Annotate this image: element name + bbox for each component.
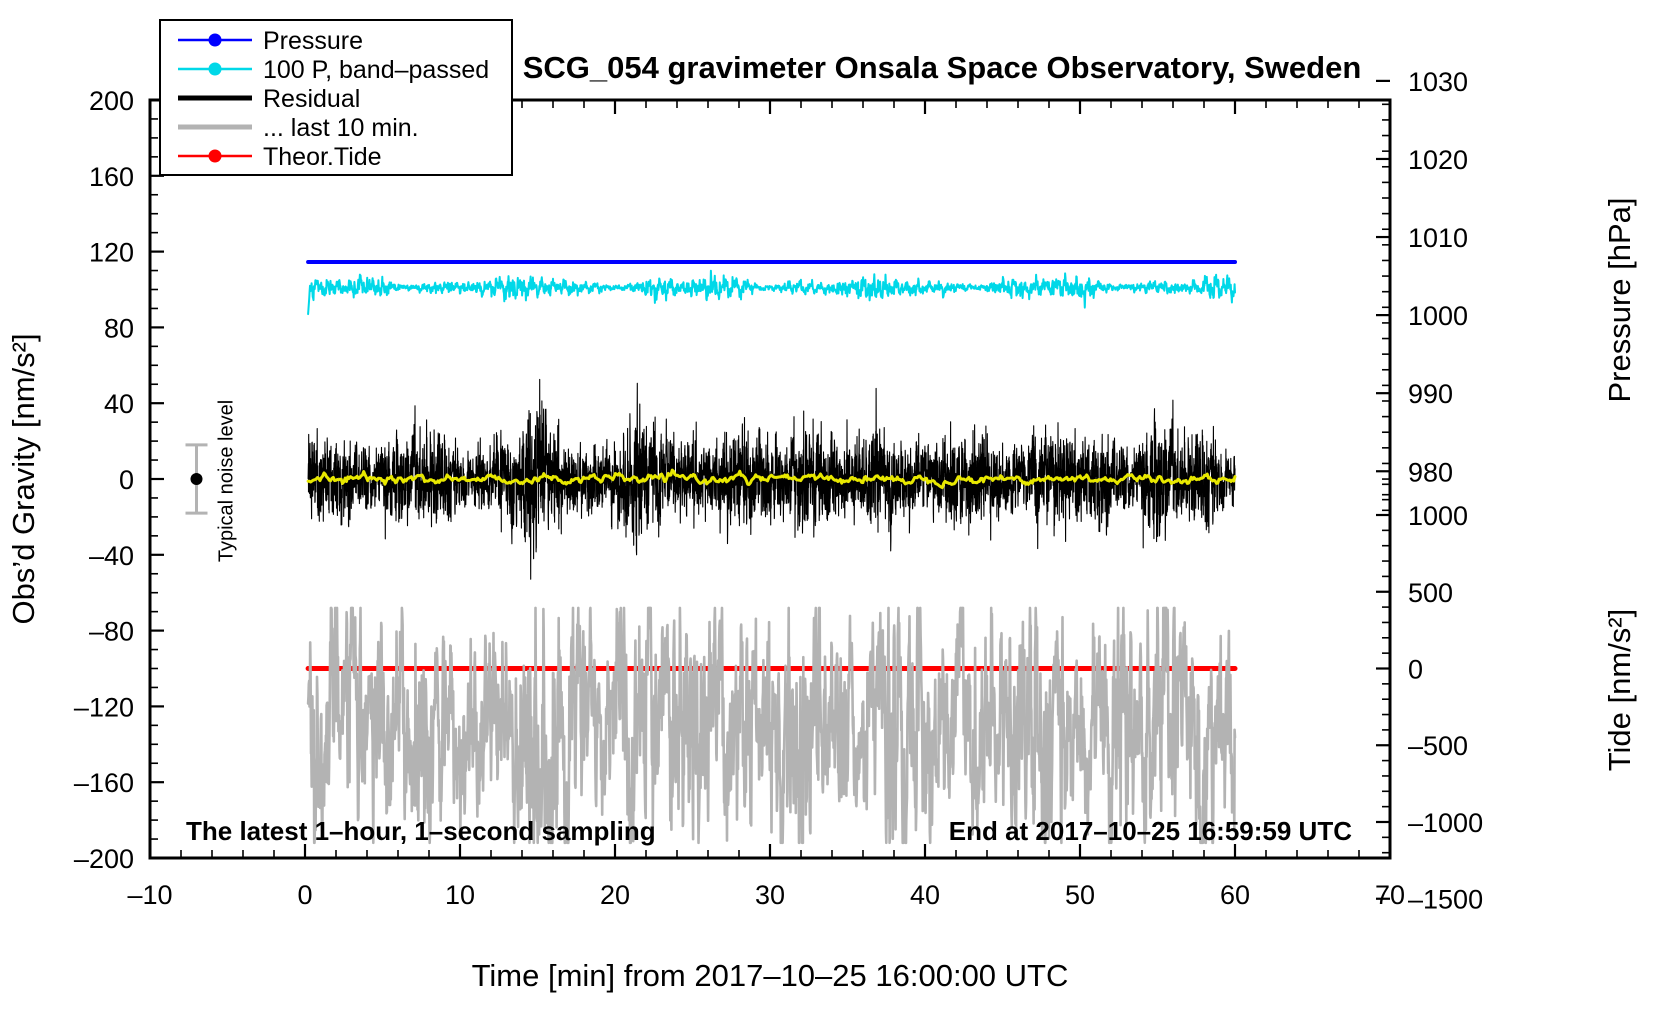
- y-tick-label: –80: [89, 617, 134, 647]
- chart-page: Typical noise level–10010203040506070Tim…: [0, 0, 1660, 1020]
- pressure-tick-label: 1010: [1408, 223, 1468, 253]
- noise-bar-center-dot: [191, 473, 203, 485]
- legend-marker-dot: [209, 34, 222, 47]
- x-axis-title: Time [min] from 2017–10–25 16:00:00 UTC: [472, 958, 1069, 993]
- y-tick-label: 0: [119, 465, 134, 495]
- y-tick-label: –40: [89, 541, 134, 571]
- tide-tick-label: 500: [1408, 578, 1453, 608]
- y-axis-title: Obs’d Gravity [nm/s²]: [6, 333, 41, 624]
- pressure-axis-title: Pressure [hPa]: [1602, 197, 1637, 402]
- legend-marker-dot: [209, 63, 222, 76]
- y-tick-label: –200: [74, 844, 134, 874]
- tide-axis-title: Tide [nm/s²]: [1602, 609, 1637, 772]
- gravimeter-chart: Typical noise level–10010203040506070Tim…: [0, 0, 1660, 1020]
- plot-area: [308, 262, 1235, 843]
- y-tick-label: –120: [74, 692, 134, 722]
- y-axis-right-tide: 10005000–500–1000–1500: [1376, 484, 1483, 914]
- typical-noise-level: Typical noise level: [186, 400, 238, 562]
- chart-title: SCG_054 gravimeter Onsala Space Observat…: [523, 50, 1362, 85]
- x-tick-label: 70: [1375, 880, 1405, 910]
- pressure-tick-label: 1000: [1408, 301, 1468, 331]
- legend-item-label: 100 P, band–passed: [263, 56, 489, 84]
- y-tick-label: 160: [89, 162, 134, 192]
- tide-tick-label: –1000: [1408, 808, 1483, 838]
- pressure-tick-label: 1020: [1408, 145, 1468, 175]
- y-tick-label: 200: [89, 86, 134, 116]
- y-tick-label: 40: [104, 389, 134, 419]
- x-tick-label: 40: [910, 880, 940, 910]
- pressure-tick-label: 980: [1408, 457, 1453, 487]
- legend-marker-dot: [209, 150, 222, 163]
- legend-item-label: Theor.Tide: [263, 143, 382, 171]
- y-tick-label: 80: [104, 313, 134, 343]
- legend: Pressure100 P, band–passedResidual... la…: [160, 20, 512, 175]
- noise-level-label: Typical noise level: [216, 400, 238, 562]
- end-time-note: End at 2017–10–25 16:59:59 UTC: [949, 816, 1352, 846]
- x-tick-label: 10: [445, 880, 475, 910]
- series-band-passed: [308, 271, 1235, 314]
- x-tick-label: 30: [755, 880, 785, 910]
- legend-item-label: Residual: [263, 85, 360, 113]
- x-tick-label: 0: [297, 880, 312, 910]
- pressure-tick-label: 1030: [1408, 67, 1468, 97]
- pressure-tick-label: 990: [1408, 379, 1453, 409]
- tide-tick-label: 0: [1408, 655, 1423, 685]
- sampling-note: The latest 1–hour, 1–second sampling: [186, 816, 656, 846]
- x-tick-label: 20: [600, 880, 630, 910]
- y-tick-label: 120: [89, 238, 134, 268]
- x-tick-label: 60: [1220, 880, 1250, 910]
- series-last-10-min: [308, 608, 1235, 843]
- tide-tick-label: –500: [1408, 731, 1468, 761]
- y-tick-label: –160: [74, 768, 134, 798]
- tide-tick-label: –1500: [1408, 885, 1483, 915]
- x-tick-label: –10: [127, 880, 172, 910]
- tide-tick-label: 1000: [1408, 501, 1468, 531]
- legend-item-label: Pressure: [263, 27, 363, 55]
- x-tick-label: 50: [1065, 880, 1095, 910]
- legend-item-label: ... last 10 min.: [263, 114, 419, 142]
